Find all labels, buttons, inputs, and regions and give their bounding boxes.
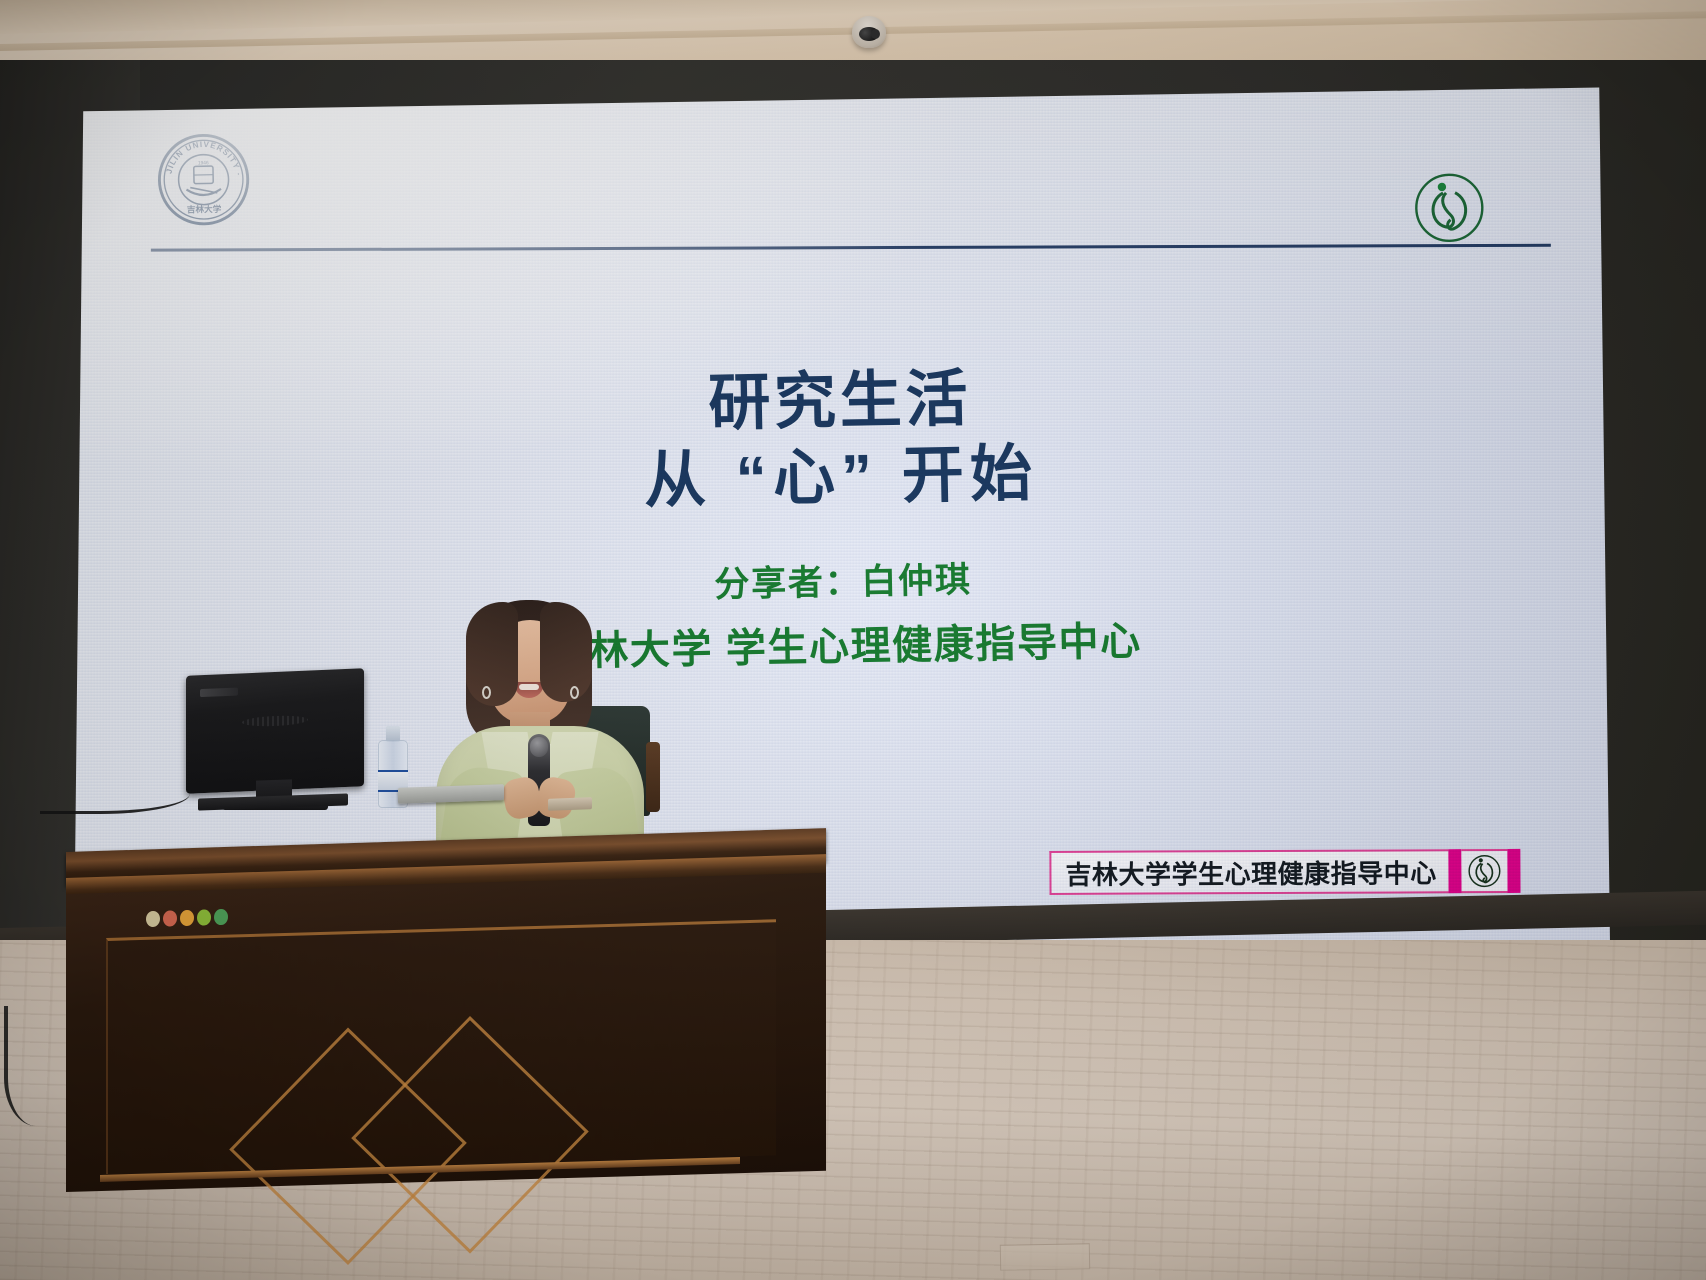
desk-stickers [146,909,228,927]
led-presentation-screen: JILIN UNIVERSITY · CHINA 1946 吉林大学 [74,84,1610,964]
screenshot-root: JILIN UNIVERSITY · CHINA 1946 吉林大学 [0,0,1706,1280]
computer-monitor-icon [186,672,364,812]
desk-front-panel [106,919,776,1174]
hair-front-right [540,602,592,702]
monitor-vent [242,715,308,728]
sticker-5 [214,909,228,925]
conference-desk [66,852,826,1192]
led-pixel-columns [74,84,1610,964]
presenter [430,598,650,868]
floor-cable [4,1006,84,1126]
sticker-1 [146,911,160,927]
earring-left [482,686,491,699]
nameplate-icon [548,797,592,811]
ceiling-dome-camera-icon [852,16,886,48]
hair-front-left [466,602,518,706]
sticker-3 [180,910,194,926]
sticker-2 [163,910,177,926]
sticker-4 [197,909,211,925]
monitor-brand-mark [200,688,238,698]
floor-tile [1000,1243,1090,1271]
earring-right [570,686,579,699]
monitor-back-panel [186,668,364,793]
slide-surface: JILIN UNIVERSITY · CHINA 1946 吉林大学 [74,84,1610,964]
